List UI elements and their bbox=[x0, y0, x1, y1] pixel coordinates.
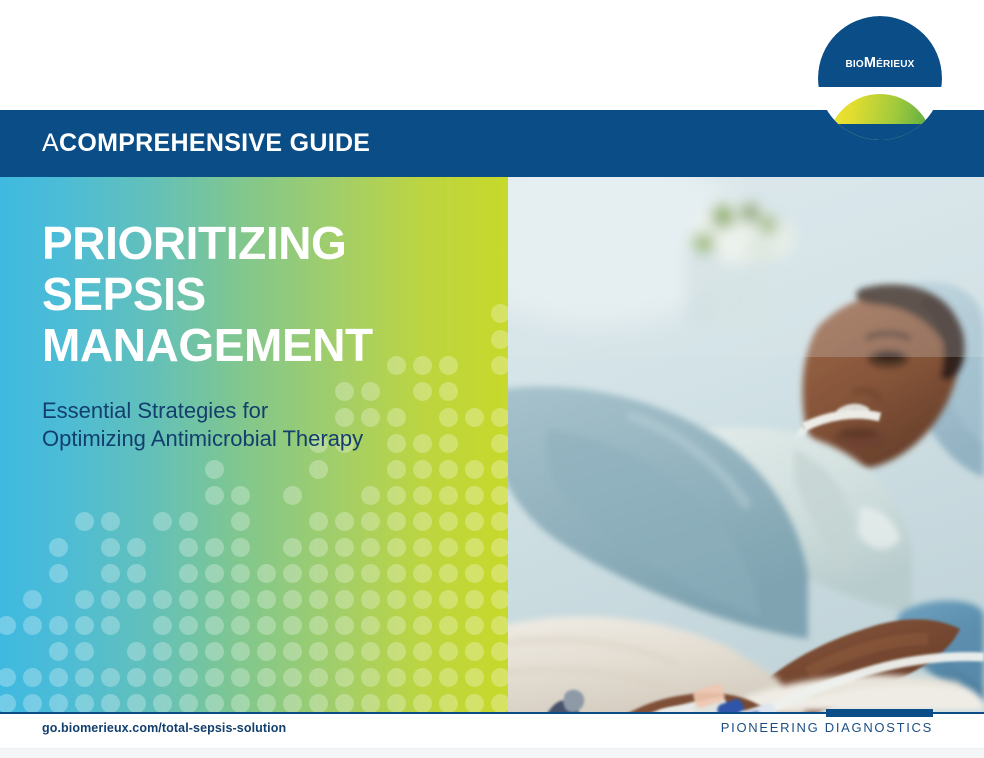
page-subtitle: Essential Strategies for Optimizing Anti… bbox=[42, 371, 472, 453]
brand-tagline: PIONEERING DIAGNOSTICS bbox=[721, 720, 933, 735]
page-bottom-edge bbox=[0, 748, 984, 758]
logo-white-gap bbox=[818, 87, 942, 94]
logo-wordmark: bioMérieux bbox=[818, 56, 942, 71]
title-line-1: PRIORITIZING bbox=[42, 217, 346, 269]
subtitle-line-1: Essential Strategies for bbox=[42, 398, 268, 423]
title-line-3: MANAGEMENT bbox=[42, 319, 373, 371]
subtitle-line-2: Optimizing Antimicrobial Therapy bbox=[42, 426, 363, 451]
hero-text-block: PRIORITIZING SEPSIS MANAGEMENT Essential… bbox=[42, 218, 472, 453]
footer-url-link[interactable]: go.biomerieux.com/total-sepsis-solution bbox=[42, 721, 286, 735]
logo-navy-base bbox=[818, 124, 942, 140]
page-eyebrow: A COMPREHENSIVE GUIDE bbox=[42, 110, 370, 177]
cover-page: bioMérieux A COMPREHENSIVE GUIDE PRIORIT… bbox=[0, 0, 984, 758]
tagline-accent-block bbox=[826, 709, 933, 717]
eyebrow-label: COMPREHENSIVE GUIDE bbox=[59, 129, 370, 158]
biomerieux-logo[interactable]: bioMérieux bbox=[818, 16, 942, 140]
footer: go.biomerieux.com/total-sepsis-solution … bbox=[0, 714, 984, 746]
eyebrow-article: A bbox=[42, 129, 59, 158]
hospital-patient-photo bbox=[508, 177, 984, 712]
title-line-2: SEPSIS bbox=[42, 268, 206, 320]
page-title: PRIORITIZING SEPSIS MANAGEMENT bbox=[42, 218, 472, 371]
